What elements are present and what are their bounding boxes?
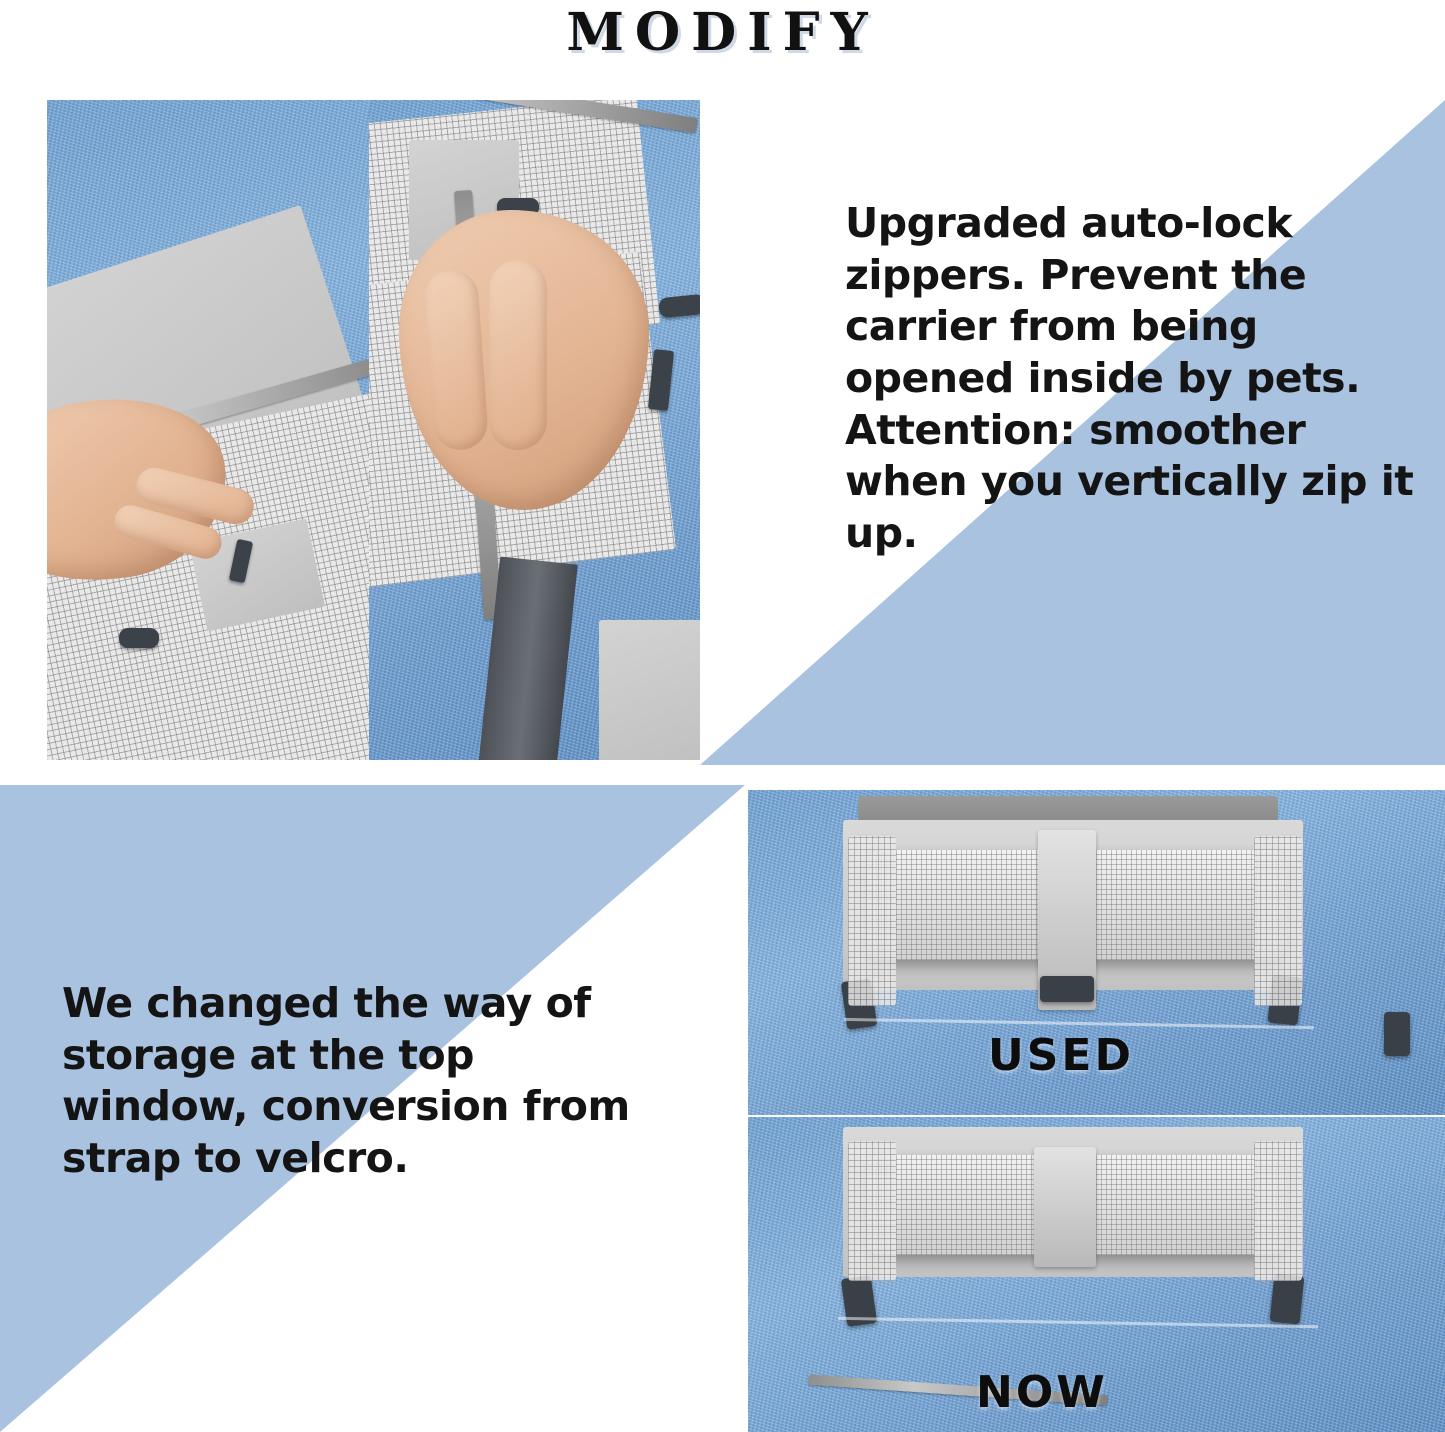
side-buckle-far-right: [1384, 1012, 1410, 1056]
photo-zipper-left-half: [47, 100, 369, 760]
photo-storage-now: NOW: [748, 1117, 1445, 1432]
product-infographic: MODIFY: [0, 0, 1445, 1432]
photo-label-now: NOW: [976, 1367, 1108, 1418]
side-mesh-left: [848, 1141, 896, 1281]
storage-description-text: We changed the way of storage at the top…: [62, 978, 662, 1185]
side-mesh-right: [1254, 836, 1302, 1006]
finger-middle-right: [489, 260, 547, 450]
page-title: MODIFY: [0, 2, 1445, 63]
side-mesh-right: [1254, 1141, 1302, 1281]
photo-zipper-right-half: [369, 100, 700, 760]
carrier-side-panel: [599, 620, 700, 760]
photo-label-used: USED: [988, 1030, 1134, 1081]
zipper-slider-mid: [658, 294, 700, 319]
velcro-strap: [1034, 1147, 1096, 1267]
zippers-description-text: Upgraded auto-lock zippers. Prevent the …: [845, 198, 1415, 560]
strap-buckle: [1040, 976, 1094, 1002]
photo-storage-used: USED: [748, 790, 1445, 1115]
side-mesh-left: [848, 836, 896, 1006]
photo-auto-lock-zippers: [47, 100, 700, 760]
zipper-slider: [119, 628, 159, 648]
side-buckle-right: [1270, 1274, 1305, 1325]
